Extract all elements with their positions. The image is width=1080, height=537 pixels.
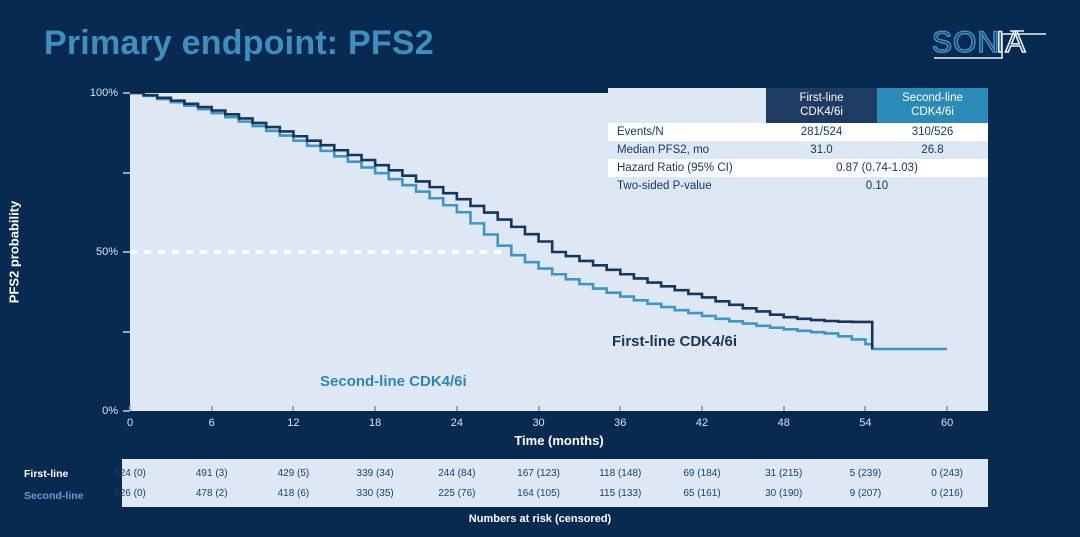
stats-header-row: First-line CDK4/6i Second-line CDK4/6i [608,88,988,123]
stats-row-value-span: 0.87 (0.74-1.03) [766,159,988,177]
y-tick-mark [123,92,130,94]
risk-cell: 330 (35) [357,488,394,499]
x-axis-label: Time (months) [130,433,988,448]
stats-header-second-l1: Second-line [885,91,980,105]
x-tick-mark [211,406,213,411]
page-title: Primary endpoint: PFS2 [44,24,434,63]
stats-table-head: First-line CDK4/6i Second-line CDK4/6i [608,88,988,123]
stats-table-row: Hazard Ratio (95% CI)0.87 (0.74-1.03) [608,159,988,177]
x-tick-mark [292,406,294,411]
stats-row-label: Two-sided P-value [608,177,766,195]
risk-cell: 118 (148) [599,468,641,479]
risk-values-grid: 524 (0)526 (0)491 (3)478 (2)429 (5)418 (… [122,459,988,507]
stats-row-label: Hazard Ratio (95% CI) [608,159,766,177]
risk-cell: 115 (133) [599,488,641,499]
y-tick-mark [123,251,130,253]
y-tick-label-50: 50% [96,246,118,258]
annotation-first-line: First-line CDK4/6i [612,333,737,350]
risk-cell: 0 (216) [931,488,963,499]
x-tick-mark [538,406,540,411]
stats-header-blank [608,88,766,123]
risk-label-second-line: Second-line [24,485,122,507]
x-tick-mark [864,406,866,411]
x-tick-label: 42 [696,417,708,429]
y-tick-mark [123,331,130,333]
risk-cell: 167 (123) [517,468,560,479]
y-axis: PFS2 probability 100% 50% 0% [0,93,130,411]
stats-row-label: Median PFS2, mo [608,141,766,159]
stats-row-value-second: 310/526 [877,123,988,141]
risk-label-first-line: First-line [24,463,122,485]
stats-table-row: Events/N281/524310/526 [608,123,988,141]
x-axis: 06121824303642485460 Time (months) [130,411,988,451]
risk-cell: 339 (34) [357,468,394,479]
x-tick-label: 48 [778,417,790,429]
risk-cell: 69 (184) [683,468,720,479]
slide-root: Primary endpoint: PFS2 SON IA PFS2 proba… [0,0,1080,537]
stats-table-row: Two-sided P-value0.10 [608,177,988,195]
svg-text:SON: SON [932,26,1000,59]
y-tick-mark [123,172,130,174]
risk-cell: 5 (239) [850,468,882,479]
stats-header-first-line: First-line CDK4/6i [766,88,877,123]
risk-cell: 9 (207) [850,488,882,499]
x-tick-label: 0 [127,417,133,429]
risk-row-labels: First-line Second-line [24,463,122,507]
risk-cell: 30 (190) [765,488,802,499]
x-tick-mark [374,406,376,411]
x-tick-label: 54 [859,417,871,429]
x-tick-mark [456,406,458,411]
x-tick-mark [946,406,948,411]
numbers-at-risk-section: First-line Second-line 524 (0)526 (0)491… [0,455,1080,537]
risk-cell: 491 (3) [196,468,228,479]
stats-header-second-l2: CDK4/6i [885,105,980,119]
x-tick-mark [129,406,131,411]
y-axis-label: PFS2 probability [7,201,22,304]
stats-row-value-second: 26.8 [877,141,988,159]
risk-cell: 164 (105) [517,488,560,499]
x-tick-label: 24 [451,417,463,429]
risk-cell: 31 (215) [765,468,802,479]
risk-cell: 526 (0) [114,488,146,499]
y-tick-label-100: 100% [90,87,118,99]
risk-cell: 244 (84) [438,468,475,479]
risk-cell: 418 (6) [278,488,310,499]
risk-caption: Numbers at risk (censored) [0,513,1080,525]
x-tick-mark [783,406,785,411]
x-tick-label: 36 [614,417,626,429]
risk-cell: 524 (0) [114,468,146,479]
x-tick-label: 18 [369,417,381,429]
stats-row-value-first: 281/524 [766,123,877,141]
x-tick-label: 12 [287,417,299,429]
stats-row-label: Events/N [608,123,766,141]
risk-cell: 225 (76) [438,488,475,499]
x-tick-mark [619,406,621,411]
stats-table-body: Events/N281/524310/526Median PFS2, mo31.… [608,123,988,195]
stats-table-row: Median PFS2, mo31.026.8 [608,141,988,159]
risk-cell: 0 (243) [931,468,963,479]
x-tick-label: 30 [532,417,544,429]
risk-cell: 429 (5) [278,468,310,479]
x-tick-mark [701,406,703,411]
stats-row-value-first: 31.0 [766,141,877,159]
annotation-second-line: Second-line CDK4/6i [320,373,467,390]
y-tick-label-0: 0% [102,405,118,417]
stats-header-first-l2: CDK4/6i [774,105,869,119]
risk-cell: 65 (161) [683,488,720,499]
x-tick-label: 6 [209,417,215,429]
stats-header-second-line: Second-line CDK4/6i [877,88,988,123]
statistics-table: First-line CDK4/6i Second-line CDK4/6i E… [608,88,988,195]
risk-cell: 478 (2) [196,488,228,499]
sonia-logo: SON IA [924,22,1054,66]
stats-header-first-l1: First-line [774,91,869,105]
stats-row-value-span: 0.10 [766,177,988,195]
x-tick-label: 60 [941,417,953,429]
